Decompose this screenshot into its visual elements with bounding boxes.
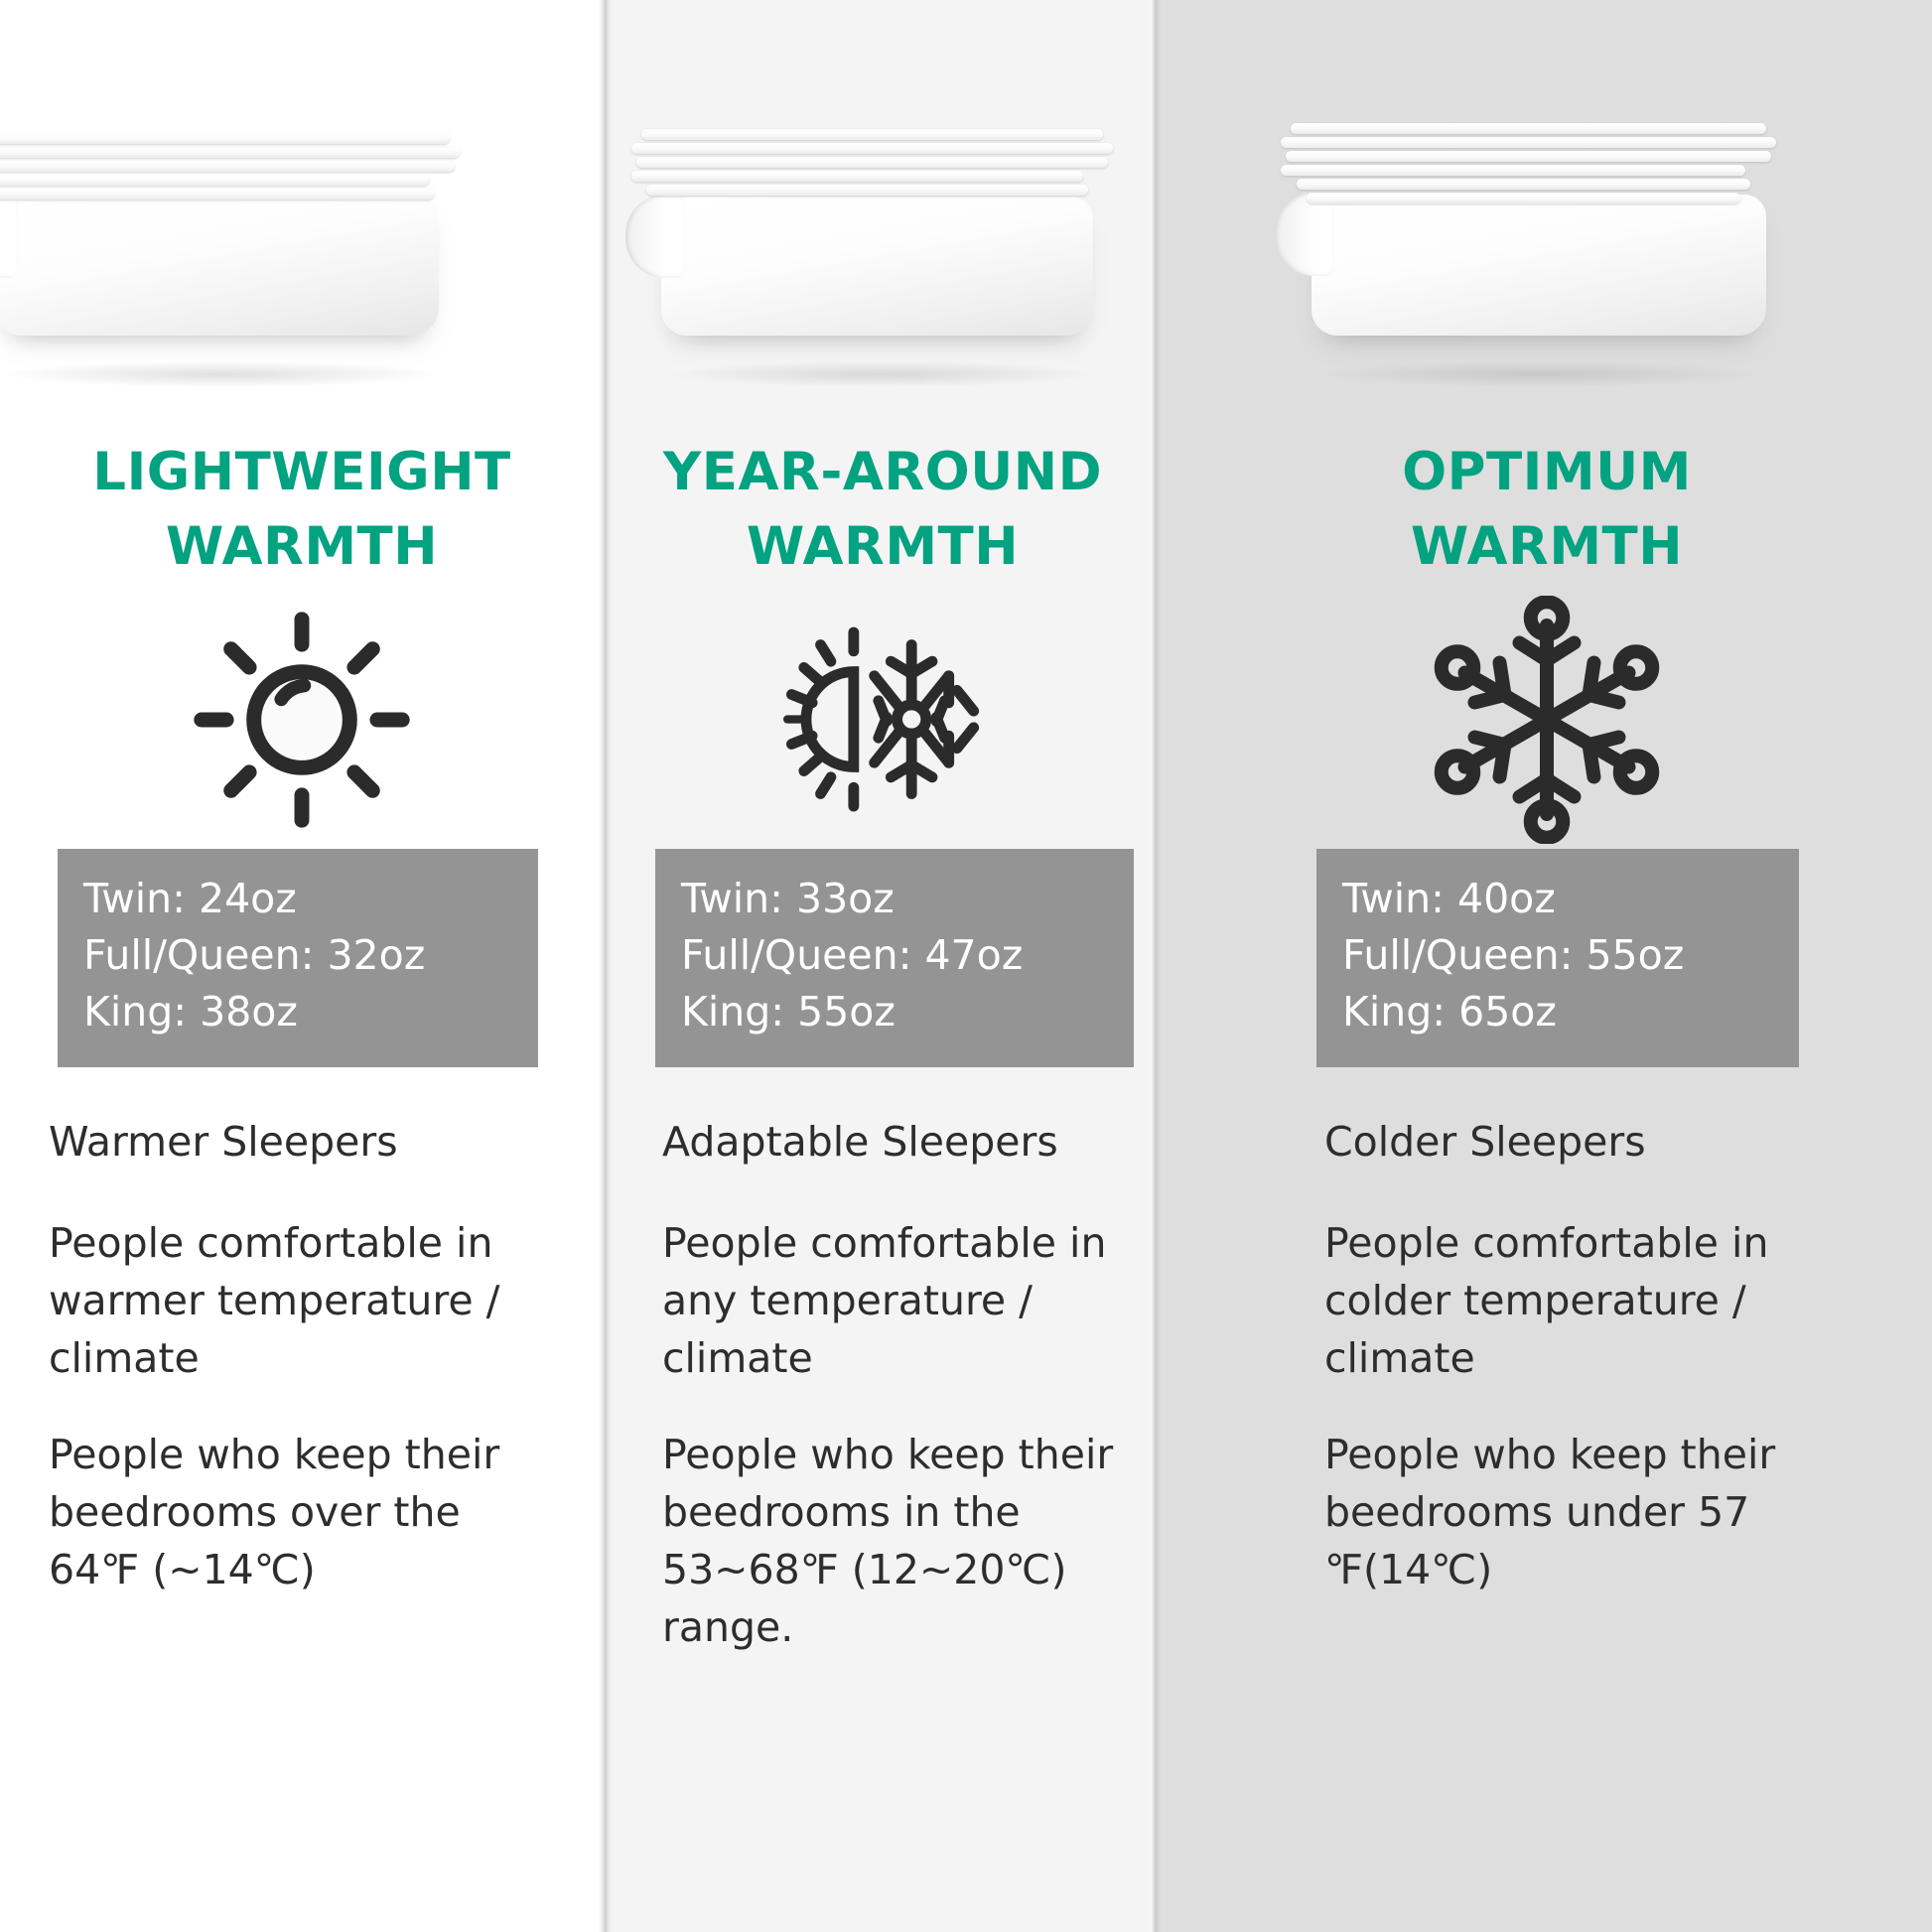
weight-twin: Twin: 40oz [1342, 871, 1773, 927]
half-sun-half-snowflake-icon [759, 591, 1007, 849]
description-primary: People comfortable in any temperature / … [662, 1214, 1129, 1388]
blanket-photo-lightweight [0, 0, 604, 427]
heading-line-2: WARMTH [92, 509, 510, 584]
weight-full-queen: Full/Queen: 47oz [681, 927, 1108, 984]
description-secondary: People who keep their beedrooms in the 5… [662, 1426, 1129, 1657]
weight-king: King: 38oz [83, 984, 512, 1040]
weight-full-queen: Full/Queen: 32oz [83, 927, 512, 984]
body-copy-year-around: Adaptable Sleepers People comfortable in… [662, 1113, 1129, 1657]
heading-line-1: OPTIMUM [1402, 435, 1692, 509]
column-heading-optimum: OPTIMUM WARMTH [1378, 435, 1716, 585]
heading-line-2: WARMTH [1402, 509, 1692, 584]
blanket-photo-year-around [604, 0, 1162, 427]
heading-line-2: WARMTH [663, 509, 1102, 584]
heading-line-1: YEAR-AROUND [663, 435, 1102, 509]
sun-icon [188, 591, 416, 849]
folded-blanket-image [1281, 77, 1797, 375]
description-primary: People comfortable in colder temperature… [1324, 1214, 1791, 1388]
weight-full-queen: Full/Queen: 55oz [1342, 927, 1773, 984]
weights-box-optimum: Twin: 40oz Full/Queen: 55oz King: 65oz [1316, 849, 1799, 1067]
heading-line-1: LIGHTWEIGHT [92, 435, 510, 509]
warmth-column-year-around: YEAR-AROUND WARMTH [604, 0, 1162, 1932]
sleeper-type: Colder Sleepers [1324, 1113, 1791, 1171]
description-secondary: People who keep their beedrooms over the… [49, 1426, 545, 1599]
column-heading-lightweight: LIGHTWEIGHT WARMTH [69, 435, 534, 585]
sleeper-type: Adaptable Sleepers [662, 1113, 1129, 1171]
weight-twin: Twin: 33oz [681, 871, 1108, 927]
weight-king: King: 55oz [681, 984, 1108, 1040]
folded-blanket-image [631, 77, 1133, 375]
body-copy-optimum: Colder Sleepers People comfortable in co… [1324, 1113, 1791, 1599]
sleeper-type: Warmer Sleepers [49, 1113, 545, 1171]
weight-king: King: 65oz [1342, 984, 1773, 1040]
warmth-column-lightweight: LIGHTWEIGHT WARMTH Twin: 24oz Full/Queen… [0, 0, 604, 1932]
warmth-column-optimum: OPTIMUM WARMTH [1162, 0, 1932, 1932]
description-secondary: People who keep their beedrooms under 57… [1324, 1426, 1791, 1599]
description-primary: People comfortable in warmer temperature… [49, 1214, 545, 1388]
blanket-photo-optimum [1162, 0, 1932, 427]
weights-box-lightweight: Twin: 24oz Full/Queen: 32oz King: 38oz [58, 849, 538, 1067]
snowflake-icon [1423, 591, 1671, 849]
weight-twin: Twin: 24oz [83, 871, 512, 927]
folded-blanket-image [0, 77, 481, 375]
weights-box-year-around: Twin: 33oz Full/Queen: 47oz King: 55oz [655, 849, 1134, 1067]
column-heading-year-around: YEAR-AROUND WARMTH [639, 435, 1126, 585]
warmth-comparison-infographic: LIGHTWEIGHT WARMTH Twin: 24oz Full/Queen… [0, 0, 1932, 1932]
body-copy-lightweight: Warmer Sleepers People comfortable in wa… [49, 1113, 545, 1599]
